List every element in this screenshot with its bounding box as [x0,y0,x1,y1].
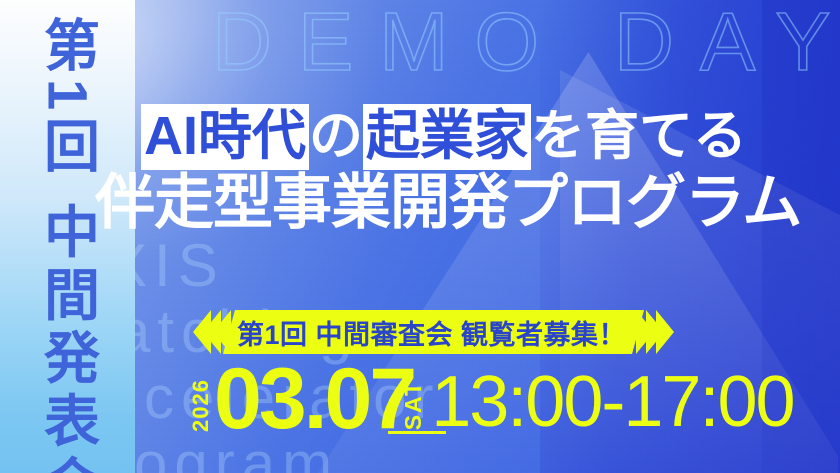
banner-label: 第1回 中間審査会 観覧者募集！ [237,313,626,352]
event-year: 2026 [190,379,212,432]
event-date: 03.07 [214,362,414,438]
sidebar-vertical-title: 第1回 中間発表会 [40,16,96,473]
headline-block: AI時代の起業家を育てる 伴走型事業開発プログラム [137,108,840,235]
event-weekday: SAT [402,380,425,430]
demo-day-poster: DEMO DAY AXIS Matching Accelerator Progr… [0,0,840,473]
chevron-right-icon [644,310,674,354]
recruitment-banner: 第1回 中間審査会 観覧者募集！ [193,310,674,354]
banner-body: 第1回 中間審査会 観覧者募集！ [223,310,644,354]
watermark-demo-day: DEMO DAY [212,0,840,90]
chevron-left-icon [193,310,223,354]
headline-highlight-ai-era: AI時代 [141,104,309,170]
headline-line-1: AI時代の起業家を育てる [137,108,840,164]
headline-line-2: 伴走型事業開発プログラム [95,172,840,234]
headline-particle-no: の [309,106,363,166]
event-weekday-wrap: SAT [414,380,427,438]
left-sidebar: 第1回 中間発表会 [0,0,135,473]
headline-highlight-entrepreneur: 起業家 [363,104,531,170]
event-date-row: 2026 03.07 SAT 13:00-17:00 [190,356,794,438]
headline-tail-nurture: を育てる [531,106,747,166]
event-time: 13:00-17:00 [431,368,793,436]
